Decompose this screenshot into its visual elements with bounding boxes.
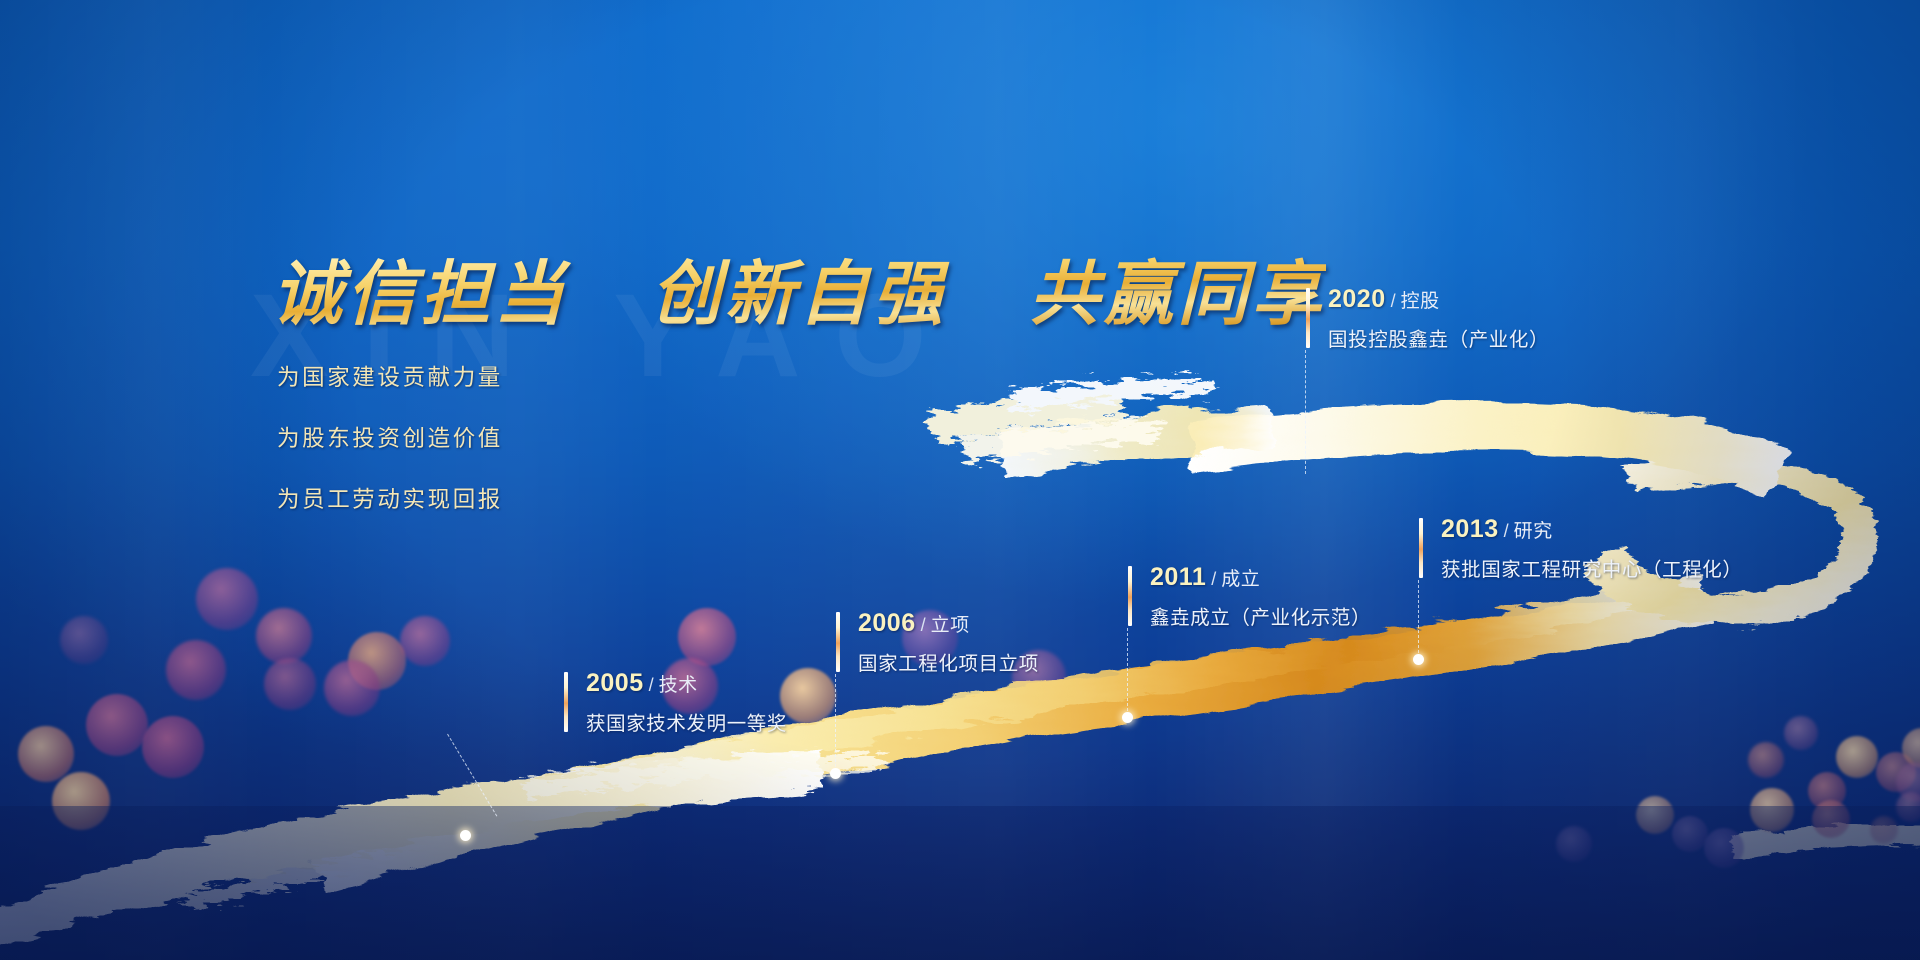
leader-line bbox=[1418, 580, 1419, 658]
timeline-node-dot bbox=[830, 768, 841, 779]
bokeh-dot bbox=[196, 568, 258, 630]
bokeh-dot bbox=[1748, 742, 1784, 778]
poster-canvas: XIN YAO 诚信担当 创新自强 共赢同享 为国家建设贡献力量 为股东投资创造… bbox=[0, 0, 1920, 960]
bokeh-dot bbox=[1784, 716, 1818, 750]
accent-bar-icon bbox=[1306, 288, 1310, 348]
timeline-description: 国家工程化项目立项 bbox=[858, 647, 1039, 676]
timeline-separator: / bbox=[1504, 521, 1509, 541]
accent-bar-icon bbox=[1419, 518, 1423, 578]
bokeh-dot bbox=[324, 660, 380, 716]
leader-line bbox=[447, 734, 497, 817]
timeline-node-dot bbox=[1413, 654, 1424, 665]
headline-part-1: 诚信担当 bbox=[272, 253, 568, 335]
bokeh-dot bbox=[1870, 816, 1898, 844]
timeline-description: 获批国家工程研究中心（工程化） bbox=[1441, 553, 1743, 582]
timeline-year: 2013 bbox=[1441, 515, 1499, 543]
timeline-label: 2005/技术 获国家技术发明一等奖 bbox=[586, 669, 787, 736]
bokeh-dot bbox=[780, 668, 836, 724]
leader-line bbox=[835, 674, 836, 772]
bokeh-dot bbox=[86, 694, 148, 756]
timeline-year: 2011 bbox=[1150, 563, 1206, 591]
timeline-description: 鑫垚成立（产业化示范） bbox=[1150, 601, 1371, 630]
timeline-node-dot bbox=[1122, 712, 1133, 723]
timeline-separator: / bbox=[1391, 291, 1396, 311]
mission-line-3: 为员工劳动实现回报 bbox=[277, 482, 503, 514]
bokeh-dot bbox=[60, 616, 108, 664]
timeline-label: 2011/成立 鑫垚成立（产业化示范） bbox=[1150, 563, 1371, 630]
timeline-category: 立项 bbox=[931, 614, 970, 636]
accent-bar-icon bbox=[1128, 566, 1132, 626]
timeline-category: 研究 bbox=[1514, 520, 1553, 542]
timeline-label: 2020/控股 国投控股鑫垚（产业化） bbox=[1328, 285, 1549, 352]
bokeh-dot bbox=[52, 772, 110, 830]
leader-line bbox=[1127, 628, 1128, 716]
bottom-shade-band bbox=[0, 806, 1920, 960]
headline-part-3: 共赢同享 bbox=[1030, 253, 1326, 335]
leader-line bbox=[1305, 350, 1306, 474]
bokeh-dot bbox=[1812, 800, 1850, 838]
timeline-separator: / bbox=[649, 675, 654, 695]
bokeh-dot bbox=[1672, 816, 1708, 852]
bokeh-dot bbox=[264, 658, 316, 710]
timeline-label: 2006/立项 国家工程化项目立项 bbox=[858, 609, 1039, 676]
headline-part-2: 创新自强 bbox=[651, 253, 947, 335]
mission-statement-list: 为国家建设贡献力量 为股东投资创造价值 为员工劳动实现回报 bbox=[277, 360, 503, 543]
timeline-category: 控股 bbox=[1401, 290, 1440, 312]
accent-bar-icon bbox=[836, 612, 840, 672]
bokeh-dot bbox=[1556, 826, 1592, 862]
bokeh-dot bbox=[1704, 828, 1744, 868]
timeline-separator: / bbox=[921, 615, 926, 635]
bokeh-dot bbox=[166, 640, 226, 700]
bokeh-dot bbox=[400, 616, 450, 666]
mission-line-1: 为国家建设贡献力量 bbox=[277, 360, 503, 392]
bokeh-dot bbox=[1836, 736, 1878, 778]
timeline-year: 2006 bbox=[858, 609, 916, 637]
bokeh-dot bbox=[18, 726, 74, 782]
timeline-category: 成立 bbox=[1221, 568, 1260, 590]
mission-line-2: 为股东投资创造价值 bbox=[277, 421, 503, 453]
bokeh-dot bbox=[142, 716, 204, 778]
accent-bar-icon bbox=[564, 672, 568, 732]
timeline-category: 技术 bbox=[659, 674, 698, 696]
timeline-description: 国投控股鑫垚（产业化） bbox=[1328, 323, 1549, 352]
bokeh-dot bbox=[1896, 792, 1920, 822]
timeline-separator: / bbox=[1211, 569, 1216, 589]
timeline-year: 2005 bbox=[586, 669, 644, 697]
timeline-description: 获国家技术发明一等奖 bbox=[586, 707, 787, 736]
timeline-label: 2013/研究 获批国家工程研究中心（工程化） bbox=[1441, 515, 1743, 582]
timeline-year: 2020 bbox=[1328, 285, 1386, 313]
timeline-node-dot bbox=[460, 830, 471, 841]
bokeh-dot bbox=[1636, 796, 1674, 834]
page-title: 诚信担当 创新自强 共赢同享 bbox=[272, 238, 1326, 339]
bokeh-dot bbox=[256, 608, 312, 664]
bokeh-dot bbox=[1750, 788, 1794, 832]
